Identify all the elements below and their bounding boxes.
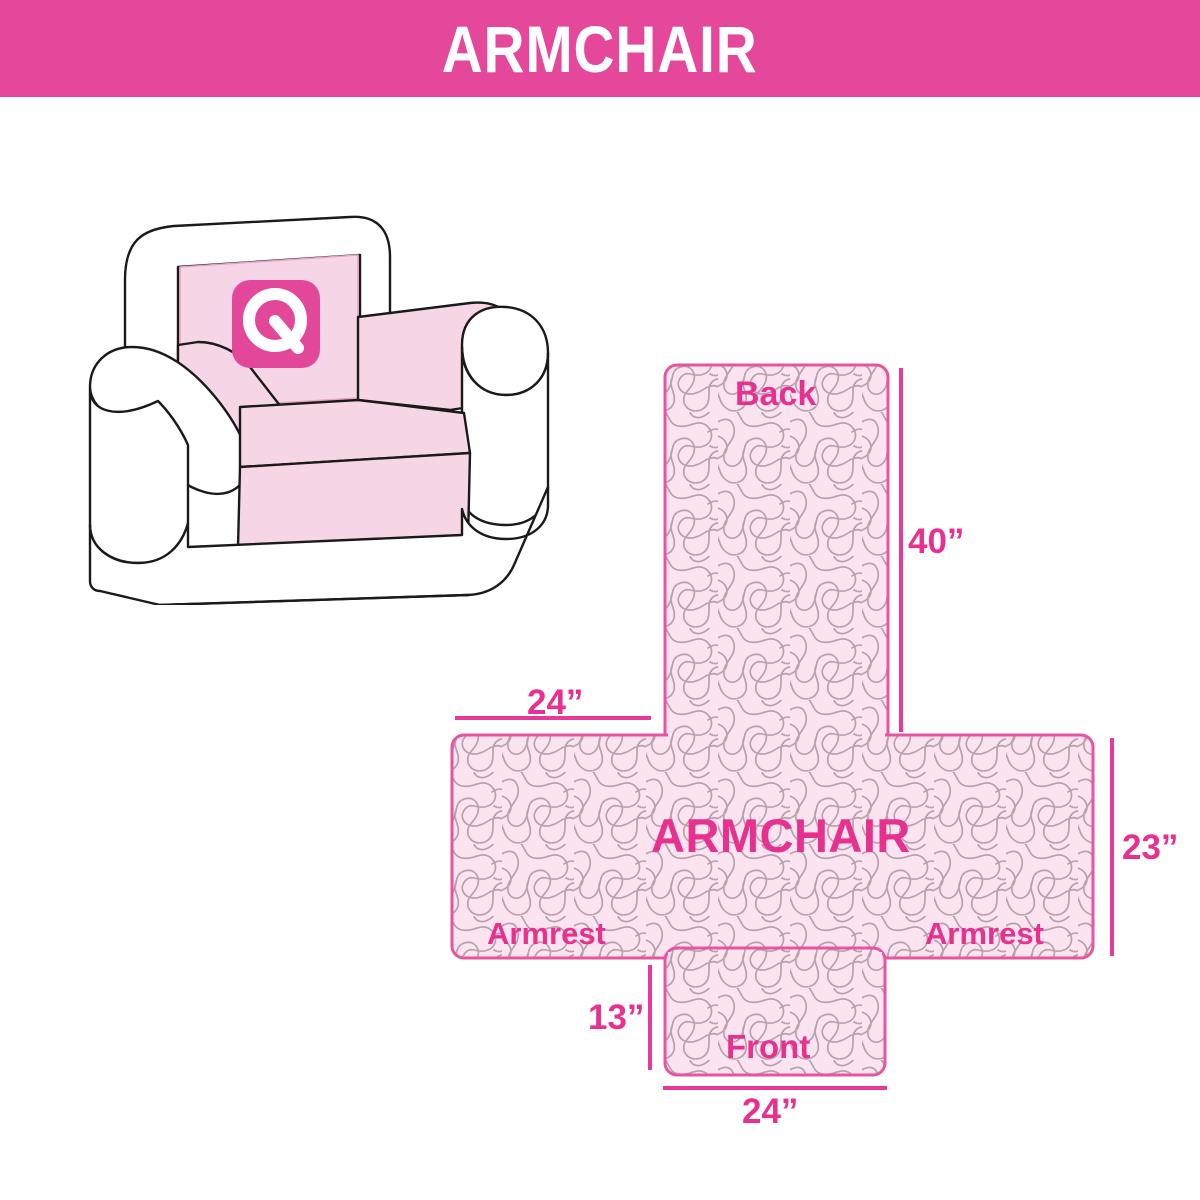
pattern-section-back <box>665 365 888 745</box>
page-title: ARMCHAIR <box>442 16 758 82</box>
pattern-label-center: ARMCHAIR <box>651 812 911 859</box>
pattern-label-armrest-left: Armrest <box>487 918 606 949</box>
pattern-label-back: Back <box>735 377 816 411</box>
dimension-value-seat-depth: 23” <box>1122 830 1178 865</box>
dimension-value-back-height: 40” <box>908 524 964 559</box>
dimension-value-front-width: 24” <box>742 1094 798 1129</box>
dimension-line-front-width <box>663 1086 887 1090</box>
dimension-line-seat-depth <box>1110 738 1114 956</box>
brand-logo <box>232 280 320 368</box>
dimension-value-back-width: 24” <box>527 685 583 720</box>
pattern-label-front: Front <box>726 1030 810 1063</box>
header-banner: ARMCHAIR <box>0 0 1200 97</box>
dimension-value-front-height: 13” <box>588 1000 644 1035</box>
pattern-diagram <box>430 340 1200 1140</box>
size-chart-page: ARMCHAIR <box>0 0 1200 1200</box>
pattern-label-armrest-right: Armrest <box>925 918 1044 949</box>
dimension-line-back-height <box>899 368 903 732</box>
dimension-line-front-height <box>648 965 652 1070</box>
